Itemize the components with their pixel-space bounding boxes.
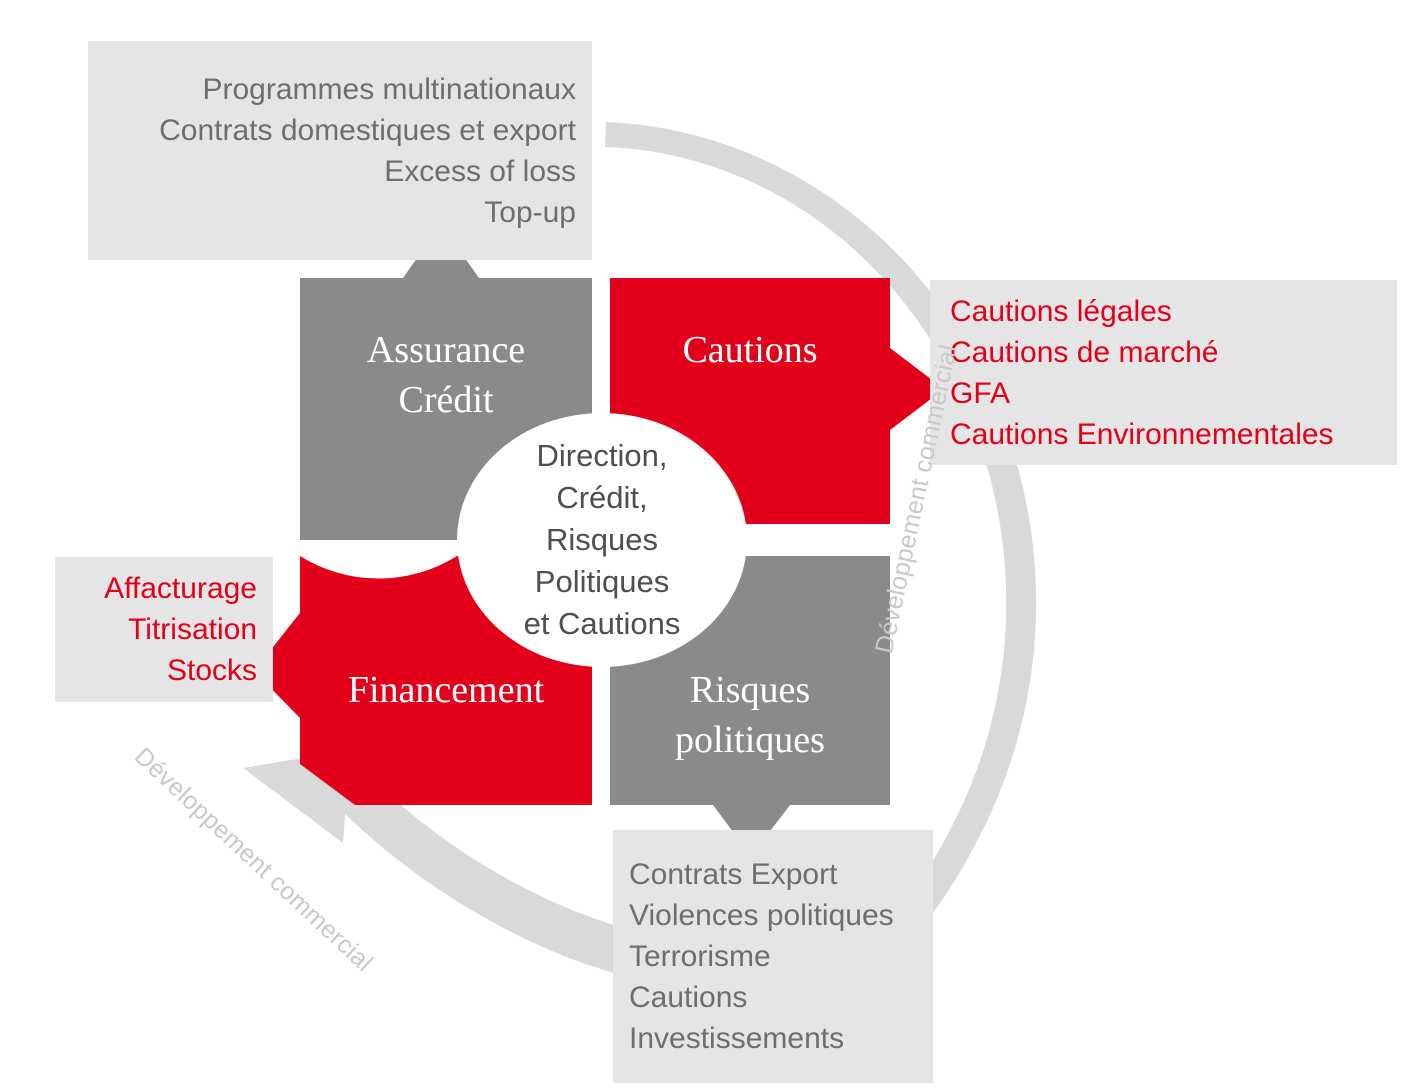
hub-line: Risques	[546, 519, 658, 561]
hub-line: Crédit,	[556, 477, 647, 519]
detail-panel-assurance-credit: Programmes multinationaux Contrats domes…	[88, 41, 592, 260]
detail-line: Titrisation	[128, 609, 257, 650]
detail-panel-risques-politiques: Contrats Export Violences politiques Ter…	[613, 830, 933, 1083]
detail-line: Cautions Environnementales	[950, 414, 1334, 455]
detail-panel-cautions: Cautions légales Cautions de marché GFA …	[930, 280, 1397, 465]
detail-line: Terrorisme	[629, 936, 771, 977]
detail-line: Investissements	[629, 1018, 844, 1059]
detail-line: Cautions	[629, 977, 747, 1018]
detail-line: Cautions légales	[950, 291, 1172, 332]
detail-line: Contrats Export	[629, 854, 837, 895]
detail-line: Contrats domestiques et export	[159, 110, 576, 151]
hub-line: Politiques	[535, 561, 669, 603]
detail-line: Excess of loss	[384, 151, 576, 192]
detail-line: GFA	[950, 373, 1010, 414]
detail-line: Stocks	[167, 650, 257, 691]
center-hub: Direction, Crédit, Risques Politiques et…	[457, 413, 747, 667]
detail-line: Programmes multinationaux	[203, 69, 577, 110]
detail-line: Affacturage	[104, 568, 257, 609]
detail-line: Violences politiques	[629, 895, 894, 936]
detail-panel-financement: Affacturage Titrisation Stocks	[55, 557, 273, 702]
diagram-canvas: Direction, Crédit, Risques Politiques et…	[0, 0, 1407, 1088]
detail-line: Cautions de marché	[950, 332, 1218, 373]
detail-line: Top-up	[484, 192, 576, 233]
hub-line: et Cautions	[524, 603, 681, 645]
hub-line: Direction,	[537, 435, 668, 477]
